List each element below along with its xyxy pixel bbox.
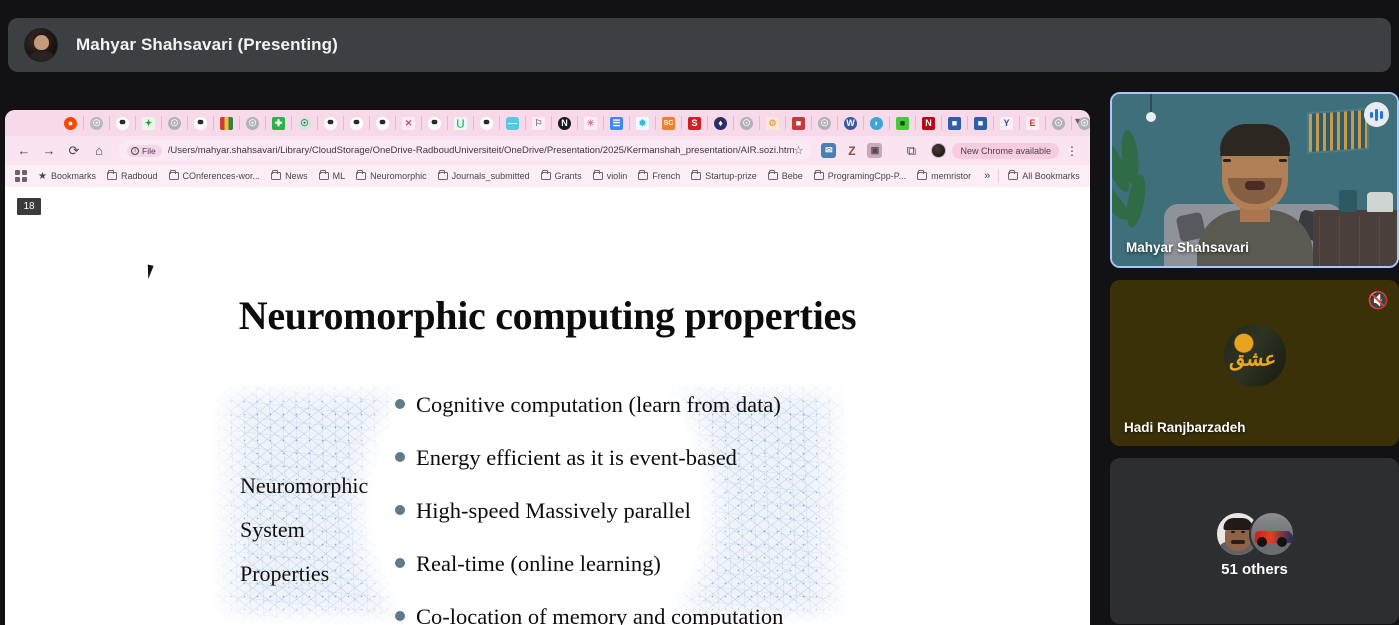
- folder-icon: [917, 172, 927, 180]
- bookmark-label: ProgramingCpp-P...: [828, 171, 906, 181]
- folder-icon: [541, 172, 551, 180]
- chevron-down-icon[interactable]: ▾: [1075, 116, 1080, 127]
- bookmark-item-startup-prize[interactable]: Startup-prize: [691, 171, 757, 181]
- bullet-label: Energy efficient as it is event-based: [416, 445, 737, 471]
- bookmark-item-radboud[interactable]: Radboud: [107, 171, 158, 181]
- bookmark-label: Bookmarks: [51, 171, 96, 181]
- folder-icon: [638, 172, 648, 180]
- address-bar-url[interactable]: /Users/mahyar.shahsavari/Library/CloudSt…: [168, 145, 794, 156]
- apps-grid-icon[interactable]: [15, 170, 28, 183]
- bookmark-label: All Bookmarks: [1022, 171, 1080, 181]
- browser-toolbar[interactable]: ← → ⟳ ⌂ i File /Users/mahyar.shahsavari/…: [5, 136, 1090, 165]
- bullet-dot-icon: [395, 558, 405, 568]
- bookmark-star-icon[interactable]: ☆: [794, 144, 804, 157]
- side-label-line: Properties: [240, 552, 390, 596]
- bookmark-item-bebe[interactable]: Bebe: [768, 171, 803, 181]
- bookmark-item-bookmarks[interactable]: ★ Bookmarks: [38, 171, 96, 182]
- bookmarks-overflow-button[interactable]: »: [984, 170, 990, 182]
- bookmark-label: French: [652, 171, 680, 181]
- tab-favicon-link-icon[interactable]: —: [506, 117, 519, 130]
- tab-favicon-y-icon[interactable]: Y: [1000, 117, 1013, 130]
- tab-favicon-gear-icon[interactable]: ⚙: [766, 117, 779, 130]
- tab-favicon-e-icon[interactable]: E: [1026, 117, 1039, 130]
- mic-off-icon: 🔇: [1366, 288, 1391, 313]
- tab-favicon-globe-icon[interactable]: ☉: [298, 117, 311, 130]
- participant-name: Hadi Ranjbarzadeh: [1124, 420, 1246, 435]
- bullet-label: Co-location of memory and computation: [416, 604, 783, 625]
- others-count-label: 51 others: [1110, 561, 1399, 578]
- bullet-label: Cognitive computation (learn from data): [416, 392, 781, 418]
- folder-icon: [814, 172, 824, 180]
- share-icon[interactable]: ⧉: [900, 140, 922, 162]
- tab-favicon-spiral-icon[interactable]: ⋃: [454, 117, 467, 130]
- tab-favicon-snowflake-icon[interactable]: ❅: [636, 117, 649, 130]
- list-item: Energy efficient as it is event-based: [395, 445, 845, 498]
- tab-favicon-bulb-icon[interactable]: ☀: [584, 117, 597, 130]
- tab-favicon-doc-icon[interactable]: ☰: [610, 117, 623, 130]
- folder-icon: [768, 172, 778, 180]
- audio-wave-icon: [1364, 102, 1389, 127]
- tab-favicon-globe-icon[interactable]: ☉: [90, 117, 103, 130]
- slide-bullet-list: Cognitive computation (learn from data) …: [395, 392, 845, 625]
- bullet-dot-icon: [395, 452, 405, 462]
- file-scheme-chip: i File: [127, 145, 162, 157]
- chrome-update-pill[interactable]: New Chrome available: [952, 143, 1059, 159]
- home-button[interactable]: ⌂: [88, 140, 110, 162]
- tab-favicon-x-twitter-icon[interactable]: ✕: [402, 117, 415, 130]
- tab-favicon-shield-icon[interactable]: ♦: [714, 117, 727, 130]
- bookmark-item-all-bookmarks[interactable]: All Bookmarks: [1008, 171, 1080, 181]
- bookmark-label: ML: [333, 171, 346, 181]
- plant-decor: [1110, 130, 1168, 240]
- bookmark-label: Bebe: [782, 171, 803, 181]
- participant-rail[interactable]: Mahyar Shahsavari عشق 🔇 Hadi Ranjbarzade…: [1110, 92, 1399, 625]
- folder-icon: [1008, 172, 1018, 180]
- tab-favicon-edge-icon[interactable]: ◗: [870, 117, 883, 130]
- presenting-banner: Mahyar Shahsavari (Presenting): [8, 18, 1391, 72]
- bookmark-item-conferences[interactable]: COnferences-wor...: [169, 171, 261, 181]
- bookmark-item-grants[interactable]: Grants: [541, 171, 582, 181]
- back-button[interactable]: ←: [13, 140, 35, 162]
- tab-favicon-globe-icon[interactable]: ☉: [246, 117, 259, 130]
- forward-button[interactable]: →: [38, 140, 60, 162]
- folder-icon: [438, 172, 448, 180]
- meeting-screen: Mahyar Shahsavari (Presenting) ● ☉ ⚭ ✦ ☉…: [0, 0, 1399, 625]
- participant-tile-mahyar-shahsavari[interactable]: Mahyar Shahsavari: [1110, 92, 1399, 268]
- folder-icon: [691, 172, 701, 180]
- group-avatars: [1215, 511, 1295, 557]
- bookmark-label: Grants: [555, 171, 582, 181]
- tab-favicon-leaf-icon[interactable]: ✦: [142, 117, 155, 130]
- bookmark-label: Startup-prize: [705, 171, 757, 181]
- side-label-line: System: [240, 508, 390, 552]
- bookmark-label: COnferences-wor...: [183, 171, 261, 181]
- side-label-line: Neuromorphic: [240, 464, 390, 508]
- file-chip-label: File: [142, 146, 156, 156]
- list-item: Cognitive computation (learn from data): [395, 392, 845, 445]
- bookmark-item-french[interactable]: French: [638, 171, 680, 181]
- address-bar[interactable]: i File /Users/mahyar.shahsavari/Library/…: [119, 140, 811, 161]
- bullet-label: High-speed Massively parallel: [416, 498, 691, 524]
- wall-art-decor: [1307, 108, 1369, 154]
- tab-favicon-github-icon[interactable]: ⚭: [376, 117, 389, 130]
- bookmark-label: Radboud: [121, 171, 158, 181]
- mouse-cursor-icon: [144, 264, 153, 279]
- folder-icon: [169, 172, 179, 180]
- folder-icon: [356, 172, 366, 180]
- list-item: Real-time (online learning): [395, 551, 845, 604]
- tab-favicon-globe-icon[interactable]: ☉: [168, 117, 181, 130]
- participant-name: Mahyar Shahsavari: [1126, 240, 1249, 255]
- tab-favicon-github-icon[interactable]: ⚭: [480, 117, 493, 130]
- browser-menu-button[interactable]: ⋮: [1066, 144, 1078, 158]
- list-item: Co-location of memory and computation: [395, 604, 845, 625]
- reload-button[interactable]: ⟳: [63, 140, 85, 162]
- tab-favicon-bars-icon[interactable]: [220, 117, 233, 130]
- bullet-dot-icon: [395, 505, 405, 515]
- participant-tile-others[interactable]: 51 others: [1110, 458, 1399, 624]
- bookmark-label: memristor: [931, 171, 971, 181]
- tab-favicon-image-icon[interactable]: ■: [974, 117, 987, 130]
- avatar: عشق: [1224, 325, 1286, 387]
- tab-favicon-reddit-icon[interactable]: ●: [64, 117, 77, 130]
- bookmark-item-neuromorphic[interactable]: Neuromorphic: [356, 171, 427, 181]
- bookmark-item-programingcpp[interactable]: ProgramingCpp-P...: [814, 171, 906, 181]
- info-icon: i: [131, 147, 139, 155]
- tab-favicon-github-icon[interactable]: ⚭: [324, 117, 337, 130]
- bookmark-item-violin[interactable]: violin: [593, 171, 628, 181]
- slide-viewport[interactable]: 18 Neuromorphic computing properties Neu…: [5, 187, 1090, 625]
- bookmark-item-journals-submitted[interactable]: Journals_submitted: [438, 171, 530, 181]
- tab-favicon-notion-icon[interactable]: N: [558, 117, 571, 130]
- slide-side-label: Neuromorphic System Properties: [240, 464, 390, 596]
- tab-favicon-plus-icon[interactable]: ✚: [272, 117, 285, 130]
- presenter-avatar-icon: [24, 28, 58, 62]
- archive-extension-icon[interactable]: ▣: [867, 143, 882, 158]
- bookmark-label: News: [285, 171, 308, 181]
- toolbar-right-actions[interactable]: ✉ Z ▣ ⧉ New Chrome available ⋮: [817, 140, 1082, 162]
- tab-favicon-github-icon[interactable]: ⚭: [194, 117, 207, 130]
- bullet-dot-icon: [395, 399, 405, 409]
- tab-favicon-netflix-icon[interactable]: N: [922, 117, 935, 130]
- bookmark-item-ml[interactable]: ML: [319, 171, 346, 181]
- folder-icon: [271, 172, 281, 180]
- zotero-extension-icon[interactable]: Z: [844, 143, 859, 158]
- tab-favicon-image-icon[interactable]: ■: [948, 117, 961, 130]
- tab-favicon-github-icon[interactable]: ⚭: [350, 117, 363, 130]
- slide-graphic: Neuromorphic System Properties Cognitive…: [212, 382, 849, 625]
- tab-favicon-github-icon[interactable]: ⚭: [116, 117, 129, 130]
- tab-favicon-flag-icon[interactable]: ⚐: [532, 117, 545, 130]
- folder-icon: [107, 172, 117, 180]
- bookmark-label: violin: [607, 171, 628, 181]
- divider: [998, 169, 999, 183]
- presenting-banner-label: Mahyar Shahsavari (Presenting): [76, 35, 338, 55]
- tab-favicon-github-icon[interactable]: ⚭: [428, 117, 441, 130]
- bookmark-item-news[interactable]: News: [271, 171, 308, 181]
- star-icon: ★: [38, 171, 47, 182]
- tab-favicon-wordpress-icon[interactable]: W: [844, 117, 857, 130]
- tab-favicon-globe-icon[interactable]: ☉: [1052, 117, 1065, 130]
- folder-icon: [319, 172, 329, 180]
- bookmark-label: Journals_submitted: [452, 171, 530, 181]
- tab-favicon-mask-icon[interactable]: ■: [792, 117, 805, 130]
- tab-favicon-sc-icon[interactable]: SC: [662, 117, 675, 130]
- slide-frame-number: 18: [17, 198, 41, 215]
- slide-title: Neuromorphic computing properties: [5, 292, 1090, 339]
- bookmark-item-memristor[interactable]: memristor: [917, 171, 971, 181]
- browser-tab-strip[interactable]: ● ☉ ⚭ ✦ ☉ ⚭ ☉ ✚ ☉ ⚭ ⚭ ⚭ ✕: [5, 110, 1090, 136]
- participant-tile-hadi-ranjbarzadeh[interactable]: عشق 🔇 Hadi Ranjbarzadeh: [1110, 280, 1399, 446]
- profile-avatar[interactable]: [931, 143, 946, 158]
- avatar: [1249, 511, 1295, 557]
- tab-favicon-overleaf-icon[interactable]: ■: [896, 117, 909, 130]
- tab-favicon-s-icon[interactable]: S: [688, 117, 701, 130]
- mail-extension-icon[interactable]: ✉: [821, 143, 836, 158]
- tab-favicon-globe-icon[interactable]: ☉: [740, 117, 753, 130]
- bookmarks-bar[interactable]: ★ Bookmarks Radboud COnferences-wor... N…: [5, 165, 1090, 187]
- tab-favicon-globe-icon[interactable]: ☉: [818, 117, 831, 130]
- shared-screen-browser[interactable]: ● ☉ ⚭ ✦ ☉ ⚭ ☉ ✚ ☉ ⚭ ⚭ ⚭ ✕: [5, 110, 1090, 625]
- bullet-label: Real-time (online learning): [416, 551, 661, 577]
- bookmark-label: Neuromorphic: [370, 171, 427, 181]
- folder-icon: [593, 172, 603, 180]
- bullet-dot-icon: [395, 611, 405, 621]
- list-item: High-speed Massively parallel: [395, 498, 845, 551]
